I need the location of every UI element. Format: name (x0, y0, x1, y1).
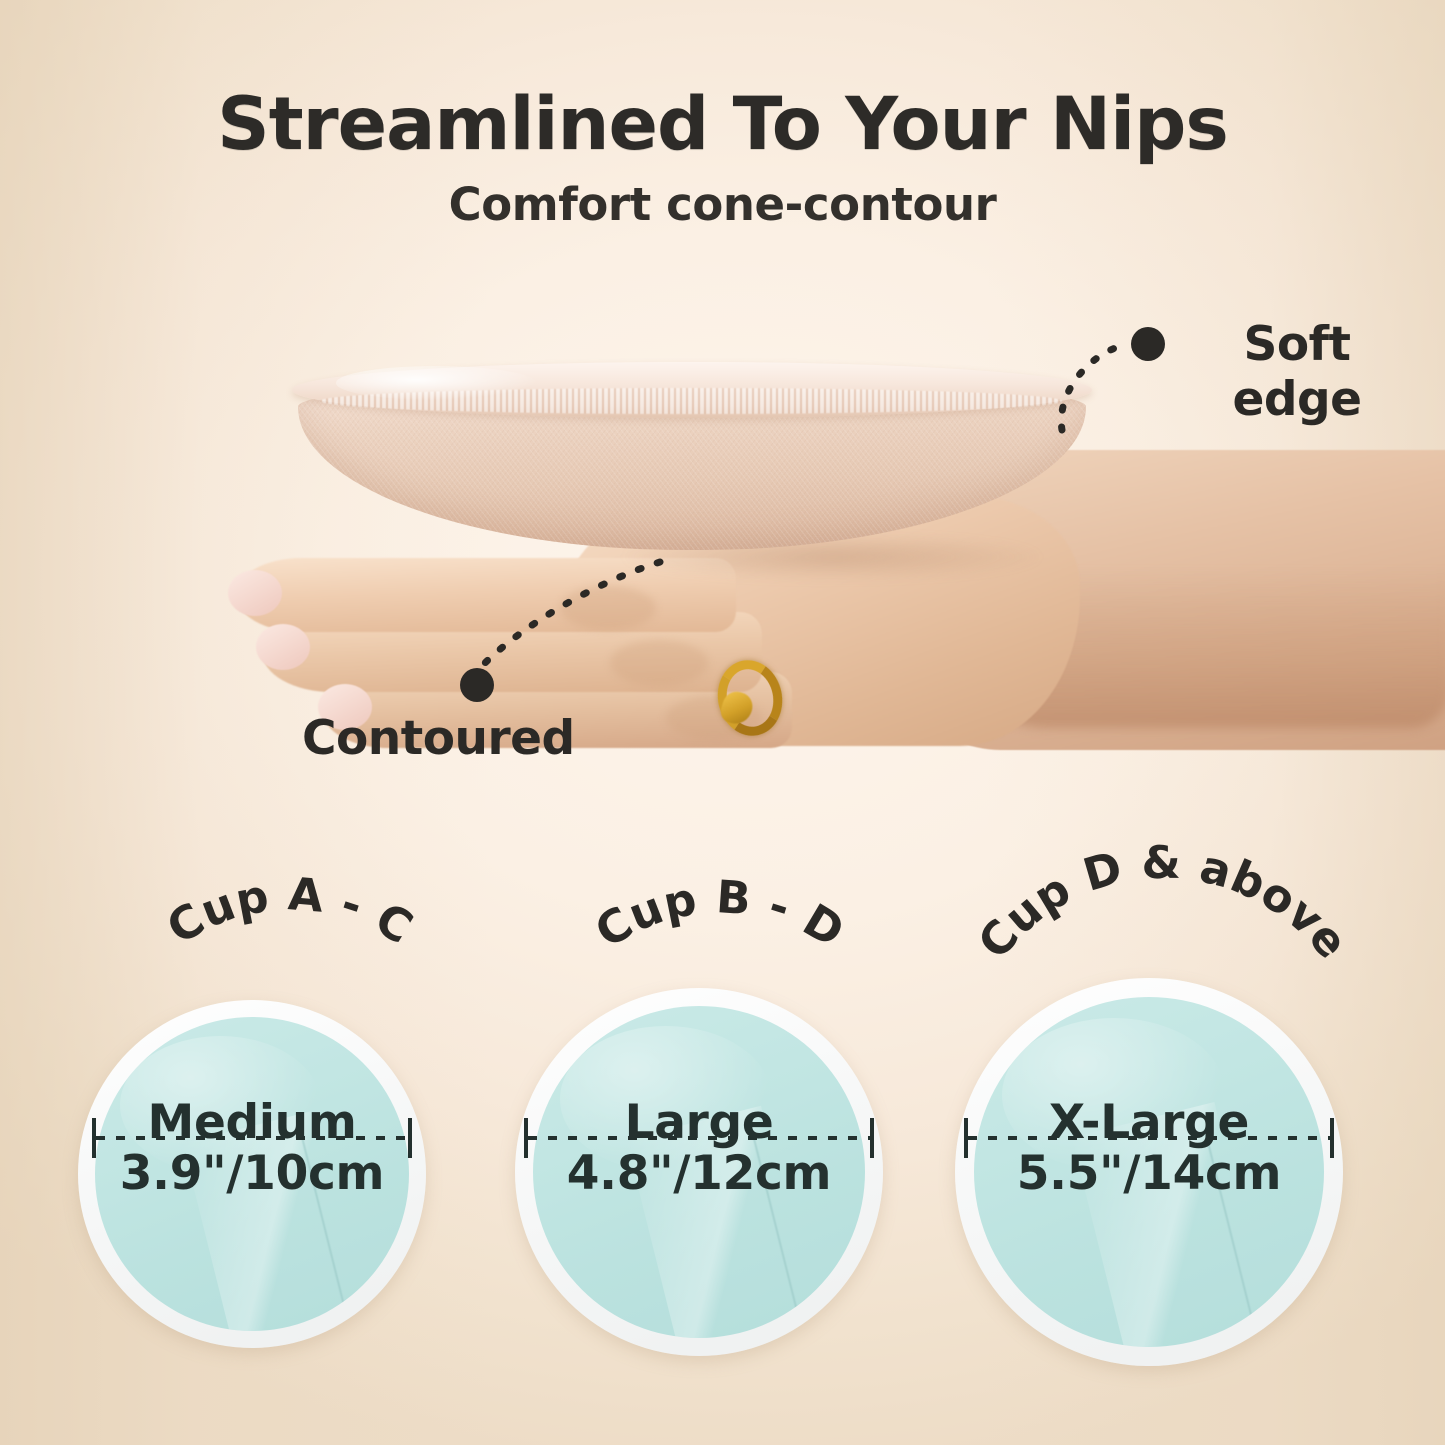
size-text-xlarge: X-Large 5.5"/14cm (955, 1098, 1343, 1200)
size-dimension-large: 4.8"/12cm (515, 1149, 883, 1200)
size-dimension-medium: 3.9"/10cm (78, 1149, 426, 1200)
size-name-large: Large (515, 1098, 883, 1149)
arc-text-cup-a-c: Cup A - C (158, 867, 422, 955)
size-text-large: Large 4.8"/12cm (515, 1098, 883, 1200)
size-name-medium: Medium (78, 1098, 426, 1149)
size-comparison-section: Cup A - C Medium 3.9"/10cm (0, 0, 1445, 1445)
size-text-medium: Medium 3.9"/10cm (78, 1098, 426, 1200)
size-dimension-xlarge: 5.5"/14cm (955, 1149, 1343, 1200)
arc-text-cup-b-d: Cup B - D (586, 870, 854, 958)
svg-text:Cup D & above: Cup D & above (967, 836, 1358, 969)
svg-text:Cup B - D: Cup B - D (586, 870, 854, 958)
size-name-xlarge: X-Large (955, 1098, 1343, 1149)
product-infographic: Streamlined To Your Nips Comfort cone-co… (0, 0, 1445, 1445)
arc-text-cup-d-above: Cup D & above (967, 836, 1358, 969)
svg-text:Cup A - C: Cup A - C (158, 867, 422, 955)
